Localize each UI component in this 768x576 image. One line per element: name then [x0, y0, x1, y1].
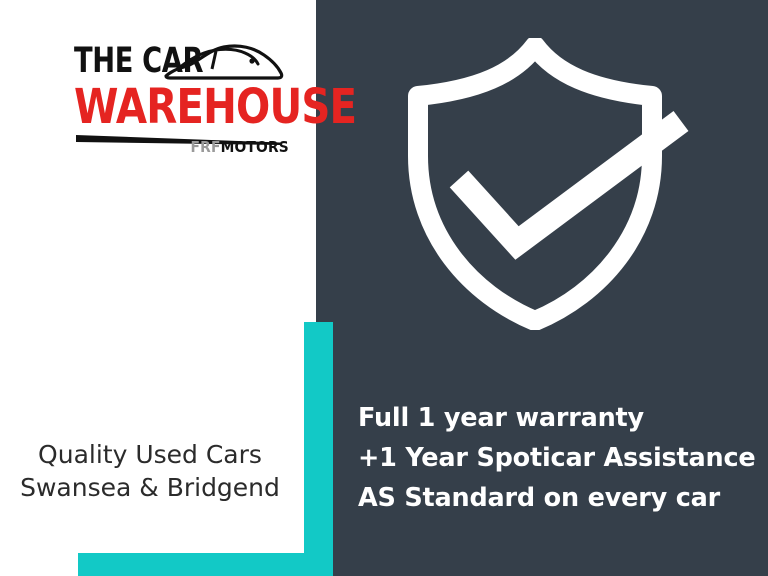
shield-check-icon	[402, 38, 692, 330]
tagline-line-2: Swansea & Bridgend	[0, 471, 300, 504]
company-logo: THE CAR WAREHOUSE FRFMOTORS	[74, 42, 289, 154]
teal-accent-horizontal-bar	[78, 553, 333, 576]
warranty-line-1: Full 1 year warranty	[358, 398, 755, 438]
promo-banner: THE CAR WAREHOUSE FRFMOTORS Quality Used…	[0, 0, 768, 576]
warranty-line-2: +1 Year Spoticar Assistance	[358, 438, 755, 478]
warranty-text-block: Full 1 year warranty +1 Year Spoticar As…	[358, 398, 755, 518]
teal-accent-vertical-bar	[304, 322, 333, 576]
tagline: Quality Used Cars Swansea & Bridgend	[0, 438, 300, 504]
logo-text-warehouse: WAREHOUSE	[74, 84, 356, 130]
logo-top-row: THE CAR	[74, 42, 289, 82]
logo-sub-brand: FRFMOTORS	[191, 138, 289, 156]
warranty-line-3: AS Standard on every car	[358, 478, 755, 518]
tagline-line-1: Quality Used Cars	[0, 438, 300, 471]
logo-sub-brand-motors: MOTORS	[221, 138, 289, 156]
logo-sub-brand-frf: FRF	[191, 138, 221, 156]
